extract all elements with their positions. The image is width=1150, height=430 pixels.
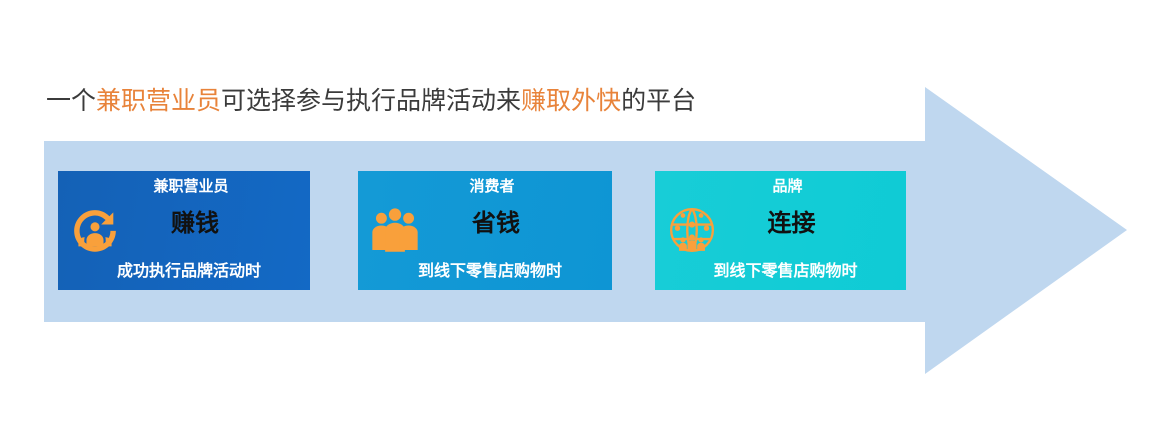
- card-row: 兼职营业员 赚钱 成功执行品牌活动时: [58, 171, 908, 290]
- headline-segment-3-highlight: 赚取外快: [521, 88, 621, 115]
- card-main-label: 省钱: [358, 209, 612, 239]
- card-header-label: 消费者: [358, 177, 612, 197]
- card-part-time-clerk[interactable]: 兼职营业员 赚钱 成功执行品牌活动时: [58, 171, 310, 290]
- headline-segment-1-highlight: 兼职营业员: [96, 88, 221, 115]
- headline-segment-4: 的平台: [621, 88, 696, 115]
- headline-segment-0: 一个: [46, 88, 96, 115]
- card-caption-label: 成功执行品牌活动时: [58, 261, 310, 283]
- card-consumer[interactable]: 消费者 省钱 到线下零售店购物时: [358, 171, 612, 290]
- card-caption-label: 到线下零售店购物时: [358, 261, 612, 283]
- card-header-label: 兼职营业员: [58, 177, 310, 197]
- card-main-label: 赚钱: [58, 209, 310, 239]
- card-brand[interactable]: 品牌 连接 到线下零售店购物时: [655, 171, 906, 290]
- headline-segment-2: 可选择参与执行品牌活动来: [221, 88, 521, 115]
- card-caption-label: 到线下零售店购物时: [655, 261, 906, 283]
- card-header-label: 品牌: [655, 177, 906, 197]
- page-title: 一个兼职营业员可选择参与执行品牌活动来赚取外快的平台: [46, 85, 696, 119]
- card-main-label: 连接: [655, 209, 906, 239]
- slide-canvas: 一个兼职营业员可选择参与执行品牌活动来赚取外快的平台: [0, 0, 1150, 430]
